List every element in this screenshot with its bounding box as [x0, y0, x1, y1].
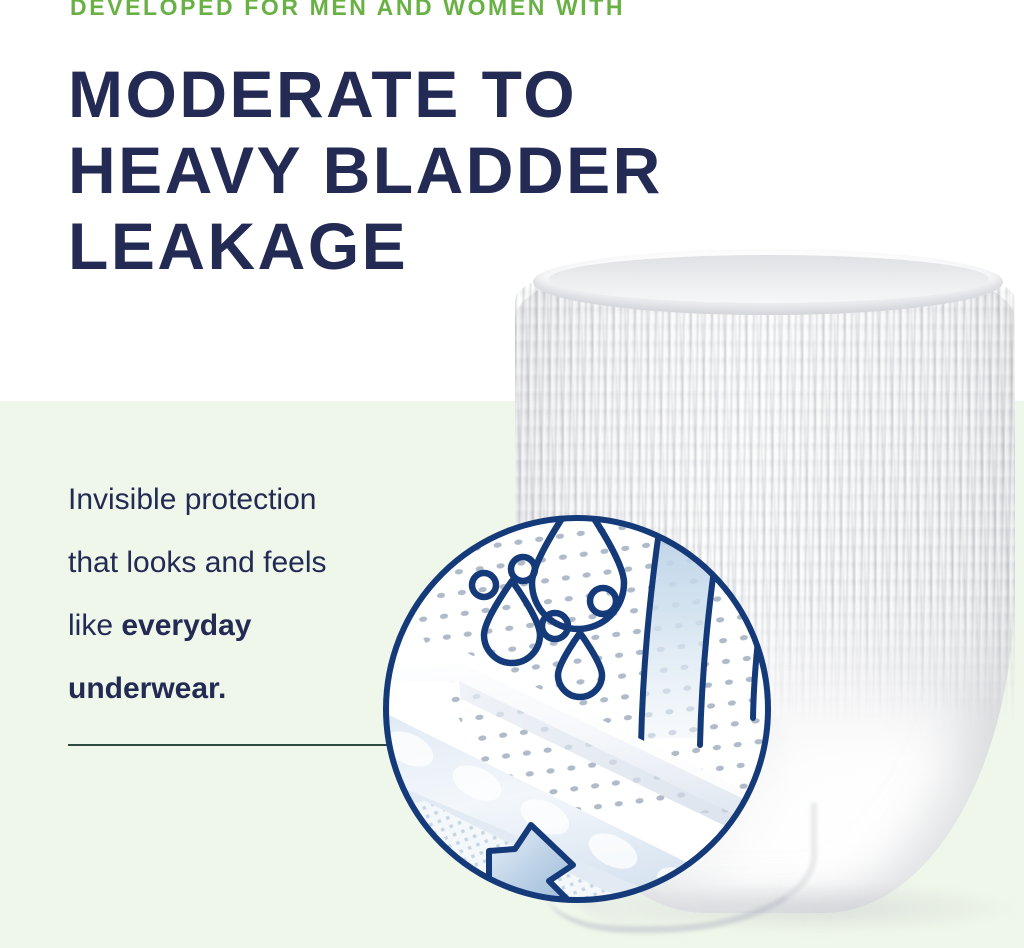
feature-line-4-bold: underwear. — [68, 672, 226, 705]
feature-line-4: underwear. — [68, 657, 408, 720]
feature-line-2: that looks and feels — [68, 531, 408, 594]
callout-magnifier — [381, 513, 773, 905]
page-title: MODERATE TO HEAVY BLADDER LEAKAGE — [68, 56, 808, 284]
headline-line-2: HEAVY BLADDER — [68, 132, 808, 208]
feature-line-3-bold: everyday — [121, 609, 251, 642]
callout-leader-line — [68, 744, 398, 746]
eyebrow-text: DEVELOPED FOR MEN AND WOMEN WITH — [70, 0, 625, 21]
feature-line-3-plain: like — [68, 609, 121, 642]
headline-line-3: LEAKAGE — [68, 208, 808, 284]
headline-line-1: MODERATE TO — [68, 56, 808, 132]
feature-line-1: Invisible protection — [68, 468, 408, 531]
feature-description: Invisible protection that looks and feel… — [68, 468, 408, 720]
promo-banner: DEVELOPED FOR MEN AND WOMEN WITH MODERAT… — [0, 0, 1024, 948]
feature-line-3: like everyday — [68, 594, 408, 657]
